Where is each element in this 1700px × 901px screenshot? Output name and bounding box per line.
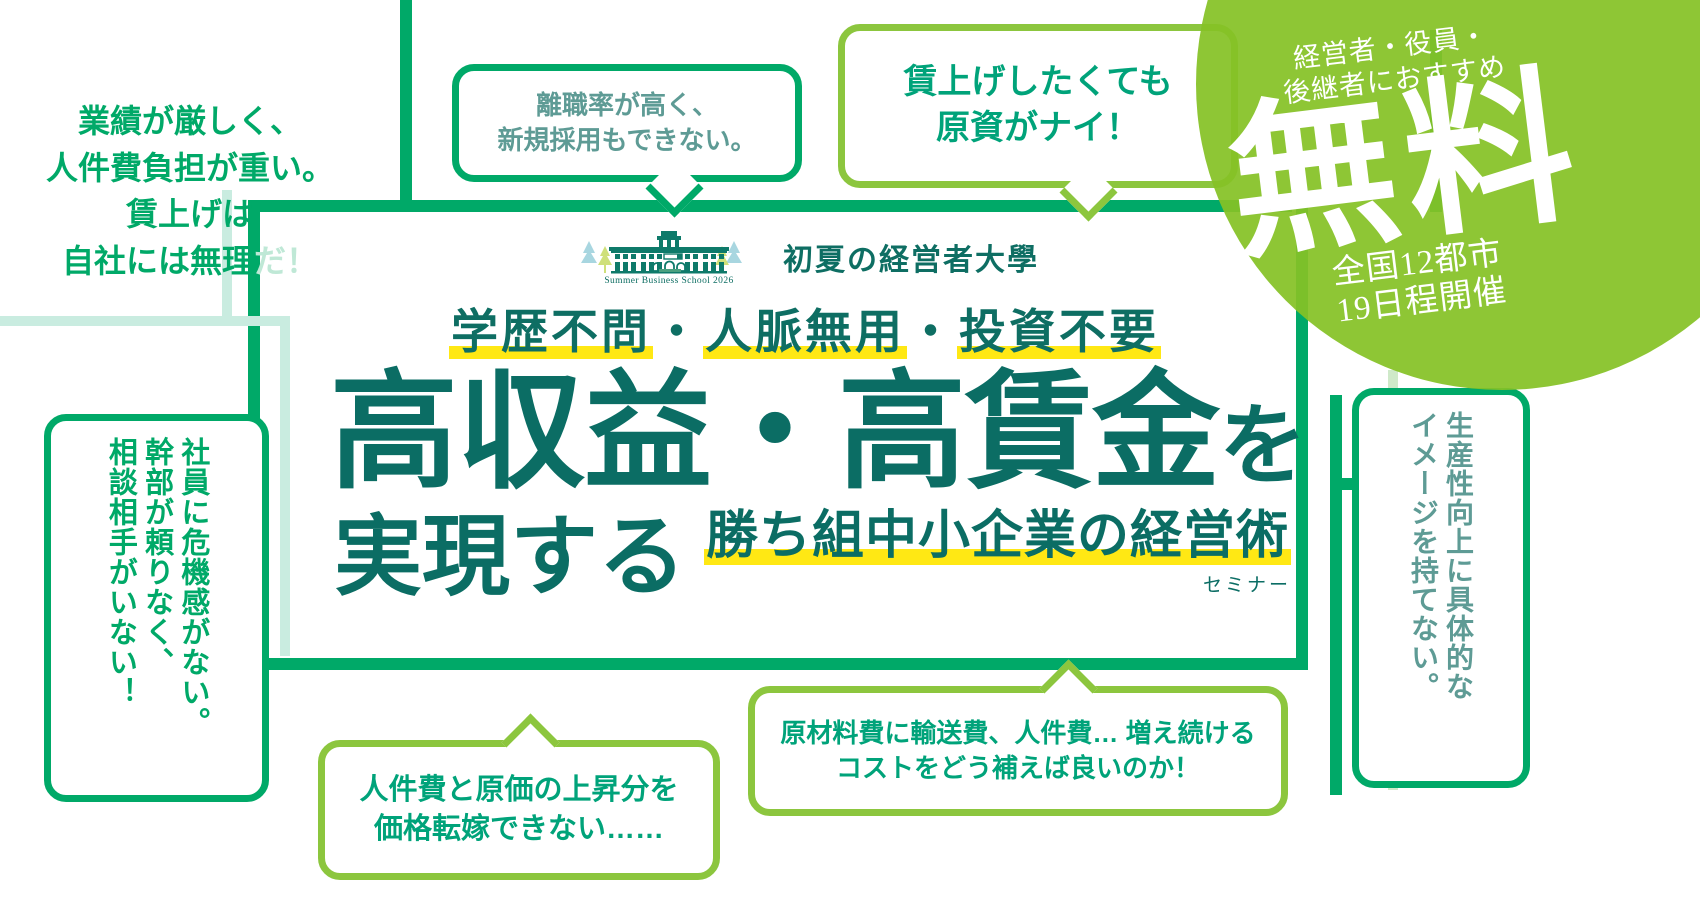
bubble-left-vertical-col3: 相談相手がいない！ bbox=[102, 437, 138, 707]
eyebrow-title: 初夏の経営者大學 bbox=[783, 235, 1039, 279]
logo-caption: Summer Business School 2026 bbox=[604, 276, 733, 286]
bubble-top-right: 賃上げしたくても 原資がナイ！ bbox=[838, 24, 1238, 188]
free-badge-content: 経営者・役員・ 後継者におすすめ 無料 全国12都市 19日程開催 bbox=[1210, 9, 1610, 400]
bubble-bottom-left: 人件費と原価の上昇分を 価格転嫁できない…… bbox=[318, 740, 720, 880]
bubble-left-vertical-col1: 社員に危機感がない。 bbox=[175, 437, 211, 737]
main-headline-row2: 実現する 勝ち組中小企業の経営術 セミナー bbox=[300, 493, 1310, 603]
bubble-left-vertical: 社員に危機感がない。 幹部が頼りなく、 相談相手がいない！ bbox=[44, 414, 269, 802]
sub-line-part-2: 人脈無用 bbox=[703, 307, 907, 359]
frame-line-mint-left-v bbox=[280, 316, 290, 656]
bubble-right-vertical-col1: 生産性向上に具体的な bbox=[1441, 411, 1476, 701]
tagline-wrap: 勝ち組中小企業の経営術 セミナー bbox=[704, 493, 1291, 603]
bubble-top-right-text: 賃上げしたくても 原資がナイ！ bbox=[903, 60, 1172, 152]
eyebrow-row: Summer Business School 2026 初夏の経営者大學 bbox=[300, 225, 1310, 289]
school-logo: Summer Business School 2026 bbox=[571, 229, 767, 286]
sub-line-sep-1: ・ bbox=[653, 307, 703, 359]
bubble-right-vertical: 生産性向上に具体的な イメージを持てない。 bbox=[1352, 388, 1530, 788]
badge-big-text: 無料 bbox=[1217, 69, 1593, 266]
tagline-text: 勝ち組中小企業の経営術 bbox=[704, 508, 1291, 565]
bubble-bottom-left-text: 人件費と原価の上昇分を 価格転嫁できない…… bbox=[359, 771, 678, 849]
bubble-bottom-right: 原材料費に輸送費、人件費… 増え続ける コストをどう補えば良いのか！ bbox=[748, 686, 1288, 816]
main-headline-line1-text: 高収益・高賃金 bbox=[330, 362, 1219, 504]
sub-line-part-1: 学歴不問 bbox=[449, 307, 653, 359]
main-headline-line1-suffix: を bbox=[1219, 399, 1306, 496]
bubble-bottom-right-text: 原材料費に輸送費、人件費… 増え続ける コストをどう補えば良いのか！ bbox=[780, 716, 1255, 786]
center-block: Summer Business School 2026 初夏の経営者大學 学歴不… bbox=[300, 225, 1310, 655]
sub-line-sep-2: ・ bbox=[907, 307, 957, 359]
sub-line: 学歴不問・人脈無用・投資不要 bbox=[300, 293, 1310, 362]
bubble-top-mid-text: 離職率が高く、 新規採用もできない。 bbox=[498, 88, 757, 158]
frame-line-bottom-h bbox=[248, 658, 1308, 670]
main-headline-line1: 高収益・高賃金を bbox=[300, 368, 1310, 499]
tagline: 勝ち組中小企業の経営術 bbox=[704, 493, 1291, 568]
frame-line-mint-left-h bbox=[0, 316, 290, 326]
seminar-label: セミナー bbox=[1203, 570, 1291, 597]
main-headline-line2: 実現する bbox=[334, 515, 686, 603]
banner-root: 業績が厳しく、 人件費負担が重い。 賃上げは 自社には無理だ！ 離職率が高く、 … bbox=[0, 0, 1700, 901]
school-building-icon bbox=[571, 229, 767, 275]
bubble-right-vertical-col2: イメージを持てない。 bbox=[1406, 411, 1441, 701]
bubble-left-vertical-col2: 幹部が頼りなく、 bbox=[138, 437, 174, 677]
sub-line-part-3: 投資不要 bbox=[957, 307, 1161, 359]
frame-line-mid-h bbox=[412, 200, 1292, 212]
bubble-top-mid: 離職率が高く、 新規採用もできない。 bbox=[452, 64, 802, 182]
frame-line-top-left-v bbox=[400, 0, 412, 212]
frame-line-right-branch-v bbox=[1330, 395, 1342, 795]
